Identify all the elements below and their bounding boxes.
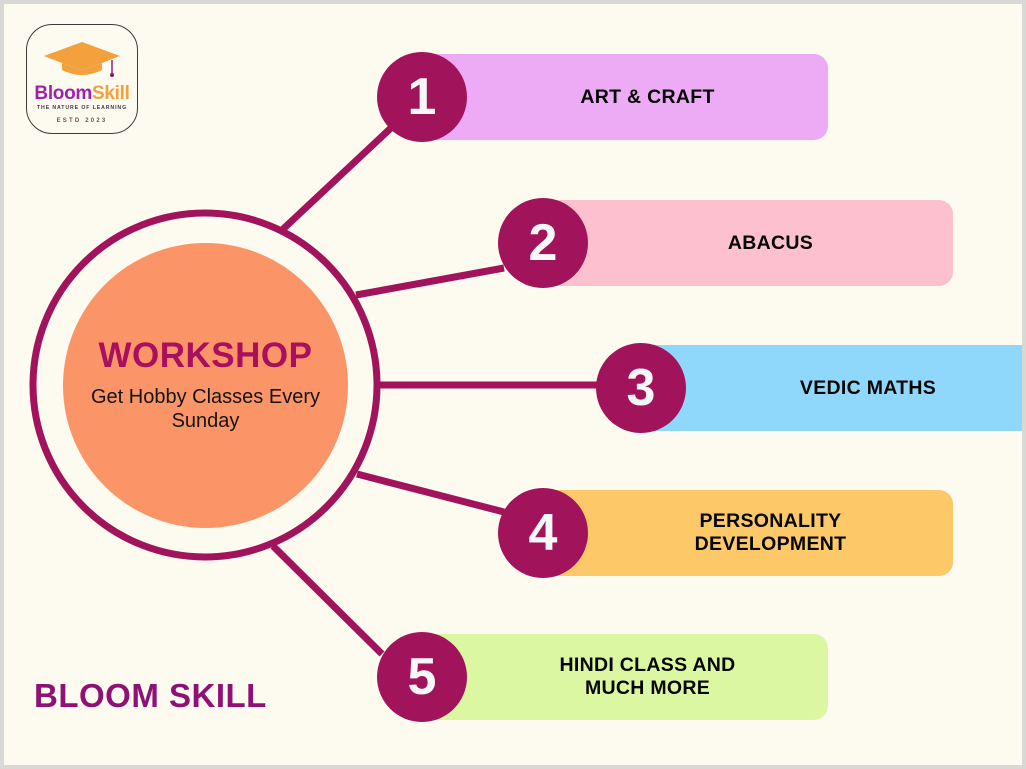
item-label-3: VEDIC MATHS xyxy=(756,377,936,400)
graduation-cap-icon xyxy=(42,40,122,80)
hub-subtitle: Get Hobby Classes Every Sunday xyxy=(63,385,348,434)
connector-line-5 xyxy=(273,546,382,654)
logo-wordmark: BloomSkill xyxy=(26,84,138,103)
item-badge-1[interactable]: 1 xyxy=(377,52,467,142)
footer-brand: BLOOM SKILL xyxy=(34,677,267,715)
bloomskill-logo: BloomSkill THE NATURE OF LEARNING ESTD 2… xyxy=(26,24,138,134)
logo-tagline: THE NATURE OF LEARNING xyxy=(26,105,138,111)
item-label-2: ABACUS xyxy=(684,232,813,255)
item-bar-2[interactable]: ABACUS xyxy=(544,200,953,286)
logo-word-skill: Skill xyxy=(92,83,130,104)
item-bar-5[interactable]: HINDI CLASS AND MUCH MORE xyxy=(423,634,828,720)
item-label-1: ART & CRAFT xyxy=(536,86,714,109)
hub-title: WORKSHOP xyxy=(99,337,313,376)
item-label-5: HINDI CLASS AND MUCH MORE xyxy=(515,654,735,700)
item-label-4: PERSONALITY DEVELOPMENT xyxy=(651,510,847,556)
logo-word-bloom: Bloom xyxy=(34,83,92,104)
connector-line-4 xyxy=(357,474,504,512)
connector-line-2 xyxy=(356,268,504,295)
item-bar-4[interactable]: PERSONALITY DEVELOPMENT xyxy=(544,490,953,576)
logo-established: ESTD 2023 xyxy=(26,118,138,124)
item-badge-5[interactable]: 5 xyxy=(377,632,467,722)
infographic-canvas: BloomSkill THE NATURE OF LEARNING ESTD 2… xyxy=(4,4,1022,765)
connector-line-1 xyxy=(281,127,392,231)
hub-center: WORKSHOP Get Hobby Classes Every Sunday xyxy=(63,243,348,528)
item-bar-3[interactable]: VEDIC MATHS xyxy=(642,345,1022,431)
item-badge-3[interactable]: 3 xyxy=(596,343,686,433)
item-bar-1[interactable]: ART & CRAFT xyxy=(423,54,828,140)
item-badge-2[interactable]: 2 xyxy=(498,198,588,288)
item-badge-4[interactable]: 4 xyxy=(498,488,588,578)
